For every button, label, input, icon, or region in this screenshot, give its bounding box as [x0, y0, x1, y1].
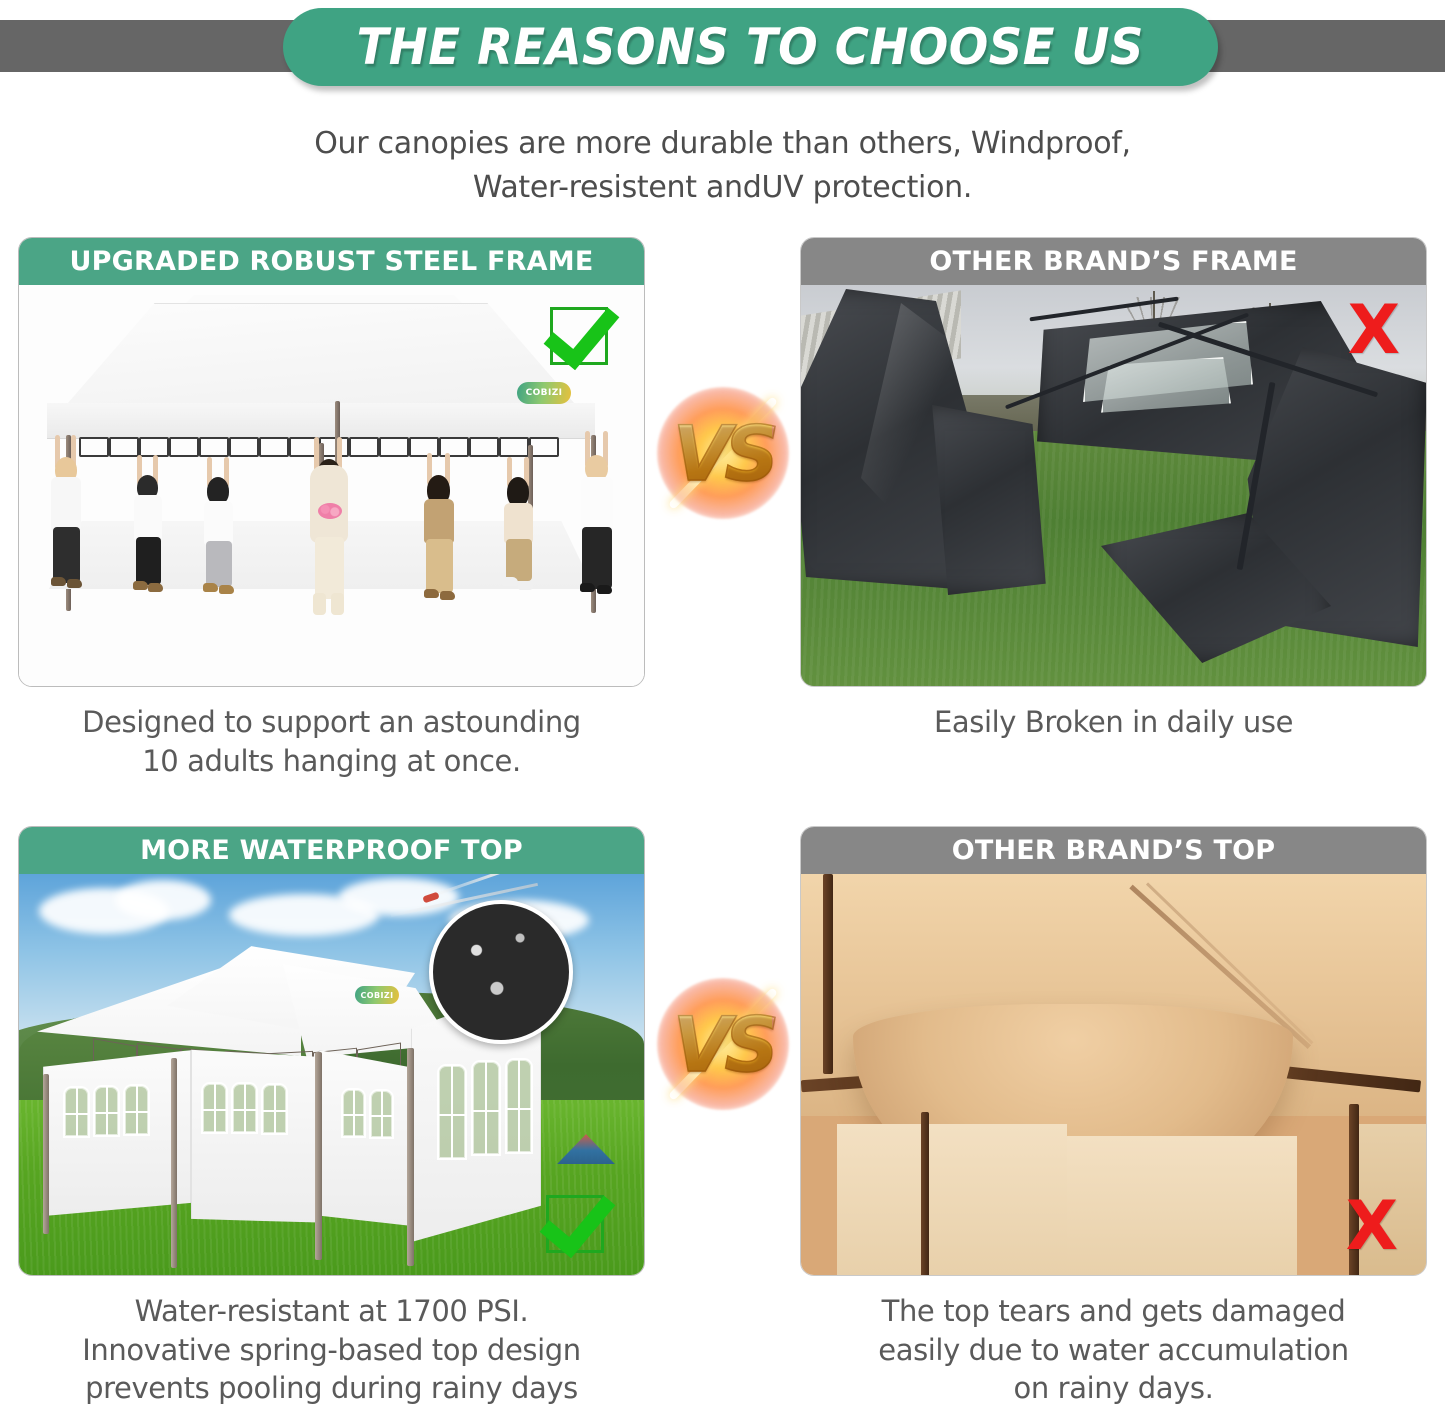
canopy-sidewall-mid — [191, 1046, 319, 1226]
sagging-canopy-photo — [801, 874, 1426, 1275]
brand-logo: COBIZI — [517, 382, 571, 404]
panel-image-more-waterproof-top: COBIZI — [19, 874, 644, 1275]
canopy-pole — [407, 1048, 414, 1266]
canopy-pole — [315, 1052, 322, 1260]
canopy-window — [369, 1089, 394, 1139]
vs-label: VS — [673, 1000, 773, 1089]
cloud — [339, 878, 459, 916]
page-header: THE REASONS TO CHOOSE US — [0, 0, 1445, 100]
panel-cell-upgraded-steel-frame: UPGRADED ROBUST STEEL FRAME COBIZI — [18, 237, 645, 780]
canopy-window — [93, 1085, 120, 1137]
canopy-pole — [171, 1058, 177, 1268]
caption-line-2: Innovative spring-based top design — [18, 1331, 645, 1370]
caption-line-1: Water-resistant at 1700 PSI. — [18, 1292, 645, 1331]
panel-image-other-brands-frame: X — [801, 285, 1426, 686]
caption-line-1: Easily Broken in daily use — [800, 703, 1427, 742]
panel-cell-other-brands-top: OTHER BRAND’S TOP — [800, 826, 1427, 1408]
panel-header-other-brands-frame: OTHER BRAND’S FRAME — [801, 238, 1426, 285]
check-mark-icon — [546, 1195, 604, 1253]
vs-badge-frame: VS — [657, 387, 789, 519]
page-title: THE REASONS TO CHOOSE US — [357, 18, 1144, 76]
caption-other-brands-top: The top tears and gets damaged easily du… — [800, 1276, 1427, 1408]
canopy-corner-pole — [823, 874, 833, 1074]
subtitle-line-2: Water-resistent andUV protection. — [0, 166, 1445, 210]
check-mark-icon — [550, 307, 608, 365]
panel-upgraded-steel-frame[interactable]: UPGRADED ROBUST STEEL FRAME COBIZI — [18, 237, 645, 687]
panel-more-waterproof-top[interactable]: MORE WATERPROOF TOP — [18, 826, 645, 1276]
panel-header-more-waterproof-top: MORE WATERPROOF TOP — [19, 827, 644, 874]
header-title-pill: THE REASONS TO CHOOSE US — [283, 8, 1218, 86]
panel-other-brands-frame[interactable]: OTHER BRAND’S FRAME — [800, 237, 1427, 687]
canopy-window — [63, 1086, 90, 1138]
canopy-window — [201, 1082, 228, 1134]
comparison-row-top: VS MORE WATERPROOF TOP — [18, 826, 1427, 1408]
caption-upgraded-steel-frame: Designed to support an astounding 10 adu… — [18, 687, 645, 780]
brand-logo-text: COBIZI — [361, 991, 394, 1000]
x-mark-icon: X — [1346, 1193, 1398, 1261]
brand-logo-text: COBIZI — [526, 388, 563, 398]
brand-logo: COBIZI — [355, 986, 399, 1004]
caption-line-3: prevents pooling during rainy days — [18, 1369, 645, 1408]
canopy-window — [341, 1088, 366, 1138]
broken-gazebo-photo — [801, 285, 1426, 686]
x-mark-icon: X — [1348, 297, 1400, 365]
cloud — [115, 880, 211, 920]
canopy-valance — [47, 403, 595, 439]
canopy-window — [505, 1058, 533, 1154]
caption-other-brands-frame: Easily Broken in daily use — [800, 687, 1427, 742]
canopy-sidewall-inner — [319, 1050, 413, 1226]
panel-image-upgraded-steel-frame: COBIZI — [19, 285, 644, 686]
panel-header-upgraded-steel-frame: UPGRADED ROBUST STEEL FRAME — [19, 238, 644, 285]
caption-line-3: on rainy days. — [800, 1369, 1427, 1408]
canopy-pole — [43, 1074, 49, 1234]
caption-line-2: easily due to water accumulation — [800, 1331, 1427, 1370]
panel-other-brands-top[interactable]: OTHER BRAND’S TOP — [800, 826, 1427, 1276]
panel-header-other-brands-top: OTHER BRAND’S TOP — [801, 827, 1426, 874]
comparison-row-frame: VS UPGRADED ROBUST STEEL FRAME COBIZI — [18, 237, 1427, 780]
canopy-window — [437, 1064, 467, 1160]
panel-image-other-brands-top: X — [801, 874, 1426, 1275]
caption-line-1: The top tears and gets damaged — [800, 1292, 1427, 1331]
canopy-window — [261, 1083, 288, 1135]
vs-badge-top: VS — [657, 978, 789, 1110]
comparison-grid: VS UPGRADED ROBUST STEEL FRAME COBIZI — [0, 237, 1445, 1408]
vs-label: VS — [673, 409, 773, 498]
panel-cell-other-brands-frame: OTHER BRAND’S FRAME — [800, 237, 1427, 780]
page-subtitle: Our canopies are more durable than other… — [0, 122, 1445, 209]
panel-cell-more-waterproof-top: MORE WATERPROOF TOP — [18, 826, 645, 1408]
canopy-corner-pole — [921, 1112, 929, 1275]
canopy-window — [123, 1084, 150, 1136]
canopy-curtain-right — [1067, 1136, 1297, 1275]
canopy-roof — [61, 303, 581, 411]
subtitle-line-1: Our canopies are more durable than other… — [0, 122, 1445, 166]
canopy-curtain-left — [837, 1124, 1067, 1275]
caption-line-2: 10 adults hanging at once. — [18, 742, 645, 781]
canopy-window — [471, 1060, 501, 1156]
canopy-window — [231, 1082, 258, 1134]
caption-more-waterproof-top: Water-resistant at 1700 PSI. Innovative … — [18, 1276, 645, 1408]
caption-line-1: Designed to support an astounding — [18, 703, 645, 742]
water-beading-closeup-inset — [429, 900, 573, 1044]
